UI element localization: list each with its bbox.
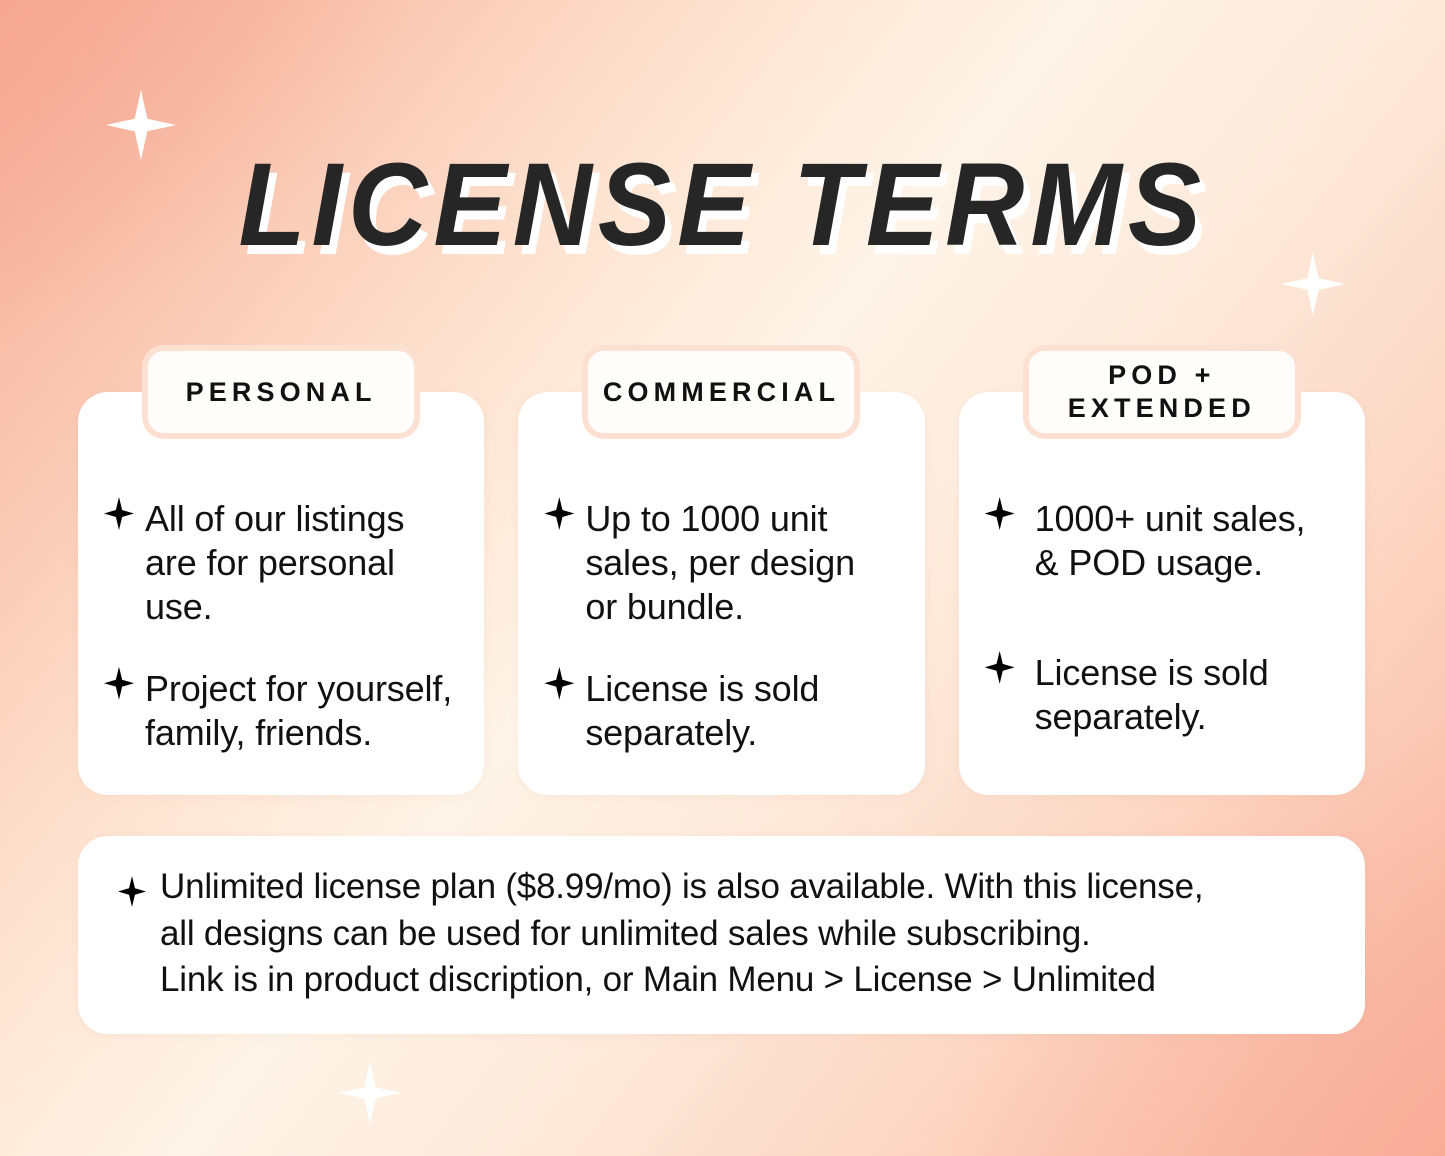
license-card-pod-extended: POD + EXTENDED 1000+ unit sales, & POD u… (959, 392, 1365, 795)
license-terms-poster: LICENSE TERMS PERSONAL All of our listin… (0, 0, 1445, 1156)
card-header-label: POD + EXTENDED (1068, 359, 1256, 425)
sparkle-bullet-icon (985, 651, 1015, 684)
list-item-text: Project for yourself, family, friends. (145, 667, 452, 755)
card-body-pod-extended: 1000+ unit sales, & POD usage. License i… (959, 392, 1365, 767)
card-body-personal: All of our listings are for personal use… (78, 392, 484, 783)
list-item: 1000+ unit sales, & POD usage. (985, 497, 1337, 585)
list-item-text: License is sold separately. (585, 667, 819, 755)
sparkle-bullet-icon (544, 667, 574, 700)
card-header-pod-extended: POD + EXTENDED (1023, 345, 1301, 439)
sparkle-bottom-icon (339, 1062, 401, 1124)
license-card-row: PERSONAL All of our listings are for per… (78, 345, 1365, 795)
list-item-text: All of our listings are for personal use… (145, 497, 404, 629)
unlimited-plan-banner: Unlimited license plan ($8.99/mo) is als… (78, 836, 1365, 1034)
card-header-commercial: COMMERCIAL (582, 345, 860, 439)
list-item: All of our listings are for personal use… (104, 497, 456, 629)
page-title-wrapper: LICENSE TERMS (0, 146, 1445, 264)
sparkle-bullet-icon (118, 876, 146, 907)
license-card-commercial: COMMERCIAL Up to 1000 unit sales, per de… (518, 392, 924, 795)
license-card-personal: PERSONAL All of our listings are for per… (78, 392, 484, 795)
unlimited-plan-text: Unlimited license plan ($8.99/mo) is als… (160, 864, 1203, 1004)
card-header-label: PERSONAL (186, 376, 377, 409)
list-item-text: Up to 1000 unit sales, per design or bun… (585, 497, 855, 629)
list-item: License is sold separately. (985, 651, 1337, 739)
page-title: LICENSE TERMS (238, 146, 1207, 264)
list-item: Up to 1000 unit sales, per design or bun… (544, 497, 896, 629)
sparkle-bullet-icon (544, 497, 574, 530)
list-item-text: License is sold separately. (1035, 651, 1269, 739)
list-item-text: 1000+ unit sales, & POD usage. (1035, 497, 1306, 585)
sparkle-bullet-icon (104, 667, 134, 700)
list-item: Project for yourself, family, friends. (104, 667, 456, 755)
list-item: License is sold separately. (544, 667, 896, 755)
card-header-personal: PERSONAL (142, 345, 420, 439)
sparkle-bullet-icon (104, 497, 134, 530)
card-header-label: COMMERCIAL (603, 376, 840, 409)
card-body-commercial: Up to 1000 unit sales, per design or bun… (518, 392, 924, 783)
sparkle-bullet-icon (985, 497, 1015, 530)
